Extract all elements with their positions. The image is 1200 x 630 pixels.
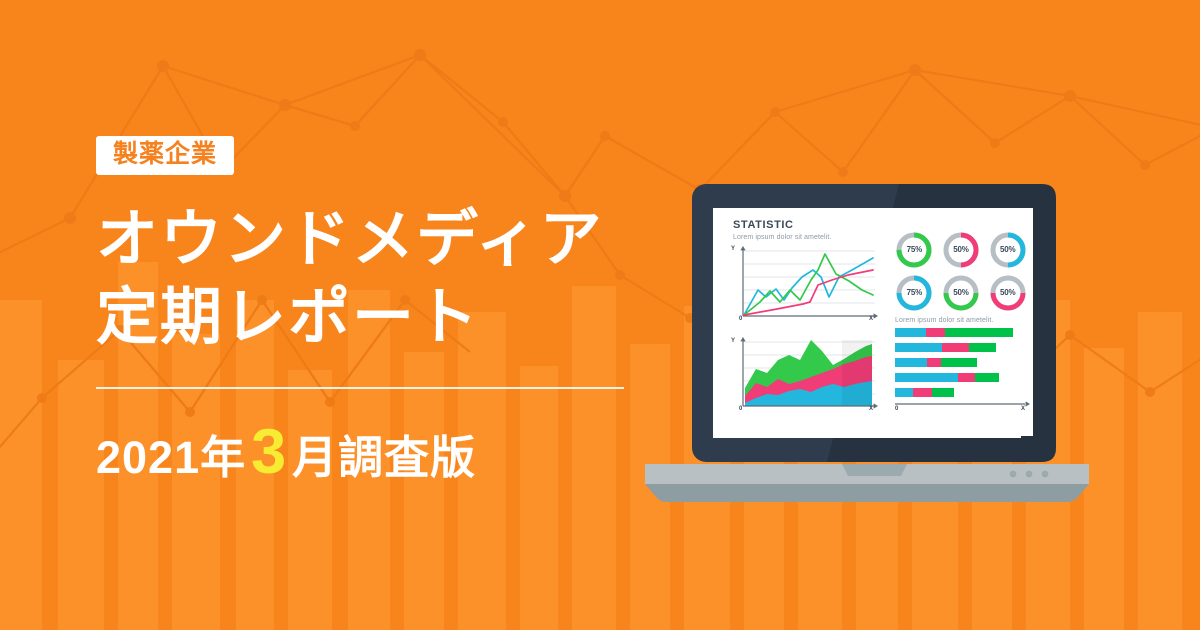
- bar-segment-pink: [926, 328, 945, 337]
- bar-segment-green: [969, 343, 996, 352]
- area-chart: Y 0 X: [729, 336, 879, 416]
- survey-year: 2021年: [96, 435, 246, 480]
- bar-segment-cyan: [895, 358, 927, 367]
- bar-row-5: [895, 388, 954, 397]
- bar-row-2: [895, 343, 996, 352]
- donut-gauge-2-label: 50%: [953, 245, 968, 254]
- bar-segment-cyan: [895, 388, 913, 397]
- banner-root: 製薬企業 オウンドメディア 定期レポート 2021年 3 月調査版: [0, 0, 1200, 630]
- donut-gauge-1: 75%: [891, 228, 938, 271]
- page-title-line-2: 定期レポート: [96, 279, 636, 357]
- bar-chart: 0 X: [895, 328, 1031, 410]
- bar-chart-axis: [895, 400, 1031, 414]
- bar-chart-caption: Lorem ipsum dolor sit ametelit.: [895, 317, 993, 324]
- bar-segment-pink: [958, 373, 975, 382]
- headline-block: 製薬企業 オウンドメディア 定期レポート 2021年 3 月調査版: [96, 136, 636, 484]
- donut-gauge-4-label: 75%: [907, 288, 922, 297]
- bar-chart-origin-label: 0: [895, 406, 898, 412]
- donut-gauge-5-label: 50%: [953, 288, 968, 297]
- bar-segment-cyan: [895, 328, 926, 337]
- laptop-base-front: [645, 484, 1089, 502]
- bar-segment-green: [975, 373, 999, 382]
- bar-segment-green: [941, 358, 977, 367]
- donut-gauge-6: 50%: [984, 271, 1031, 314]
- dashboard-subtitle: Lorem ipsum dolor sit ametelit.: [733, 234, 831, 241]
- donut-gauge-6-label: 50%: [1000, 288, 1015, 297]
- survey-date-suffix: 月調査版: [292, 435, 476, 480]
- bar-row-4: [895, 373, 999, 382]
- laptop-indicator-dots: [1010, 471, 1049, 478]
- bar-chart-x-label: X: [1021, 406, 1025, 412]
- line-chart-x-label: X: [869, 316, 873, 322]
- area-chart-origin-label: 0: [739, 406, 742, 412]
- area-chart-y-label: Y: [731, 338, 735, 344]
- dashboard: STATISTIC Lorem ipsum dolor sit ametelit…: [713, 208, 1033, 436]
- divider: [96, 387, 624, 389]
- bar-segment-green: [932, 388, 954, 397]
- donut-gauge-4: 75%: [891, 271, 938, 314]
- donut-gauge-3-label: 50%: [1000, 245, 1015, 254]
- donut-gauge-1-label: 75%: [907, 245, 922, 254]
- line-chart: Y 0 X: [729, 246, 879, 324]
- bar-segment-cyan: [895, 343, 942, 352]
- survey-month-number: 3: [246, 421, 292, 484]
- survey-date: 2021年 3 月調査版: [96, 421, 636, 484]
- bar-segment-pink: [942, 343, 968, 352]
- line-chart-y-label: Y: [731, 246, 735, 252]
- donut-gauge-3: 50%: [984, 228, 1031, 271]
- page-title-line-1: オウンドメディア: [96, 201, 636, 279]
- donut-gauge-5: 50%: [938, 271, 985, 314]
- category-badge: 製薬企業: [96, 136, 234, 175]
- bar-segment-pink: [913, 388, 932, 397]
- bar-row-3: [895, 358, 977, 367]
- bar-segment-pink: [927, 358, 941, 367]
- page-title: オウンドメディア 定期レポート: [96, 201, 636, 357]
- laptop-trackpad-notch: [842, 464, 907, 476]
- line-chart-origin-label: 0: [739, 316, 742, 322]
- line-series-cyan: [744, 258, 873, 315]
- bar-segment-green: [945, 328, 1013, 337]
- area-chart-shade: [842, 340, 872, 406]
- line-series-green: [744, 254, 873, 315]
- donut-gauge-grid: 75% 50% 50% 75: [891, 228, 1031, 314]
- bar-row-1: [895, 328, 1013, 337]
- bar-segment-cyan: [895, 373, 958, 382]
- dashboard-title: STATISTIC: [733, 219, 794, 231]
- donut-gauge-2: 50%: [938, 228, 985, 271]
- area-chart-x-label: X: [869, 406, 873, 412]
